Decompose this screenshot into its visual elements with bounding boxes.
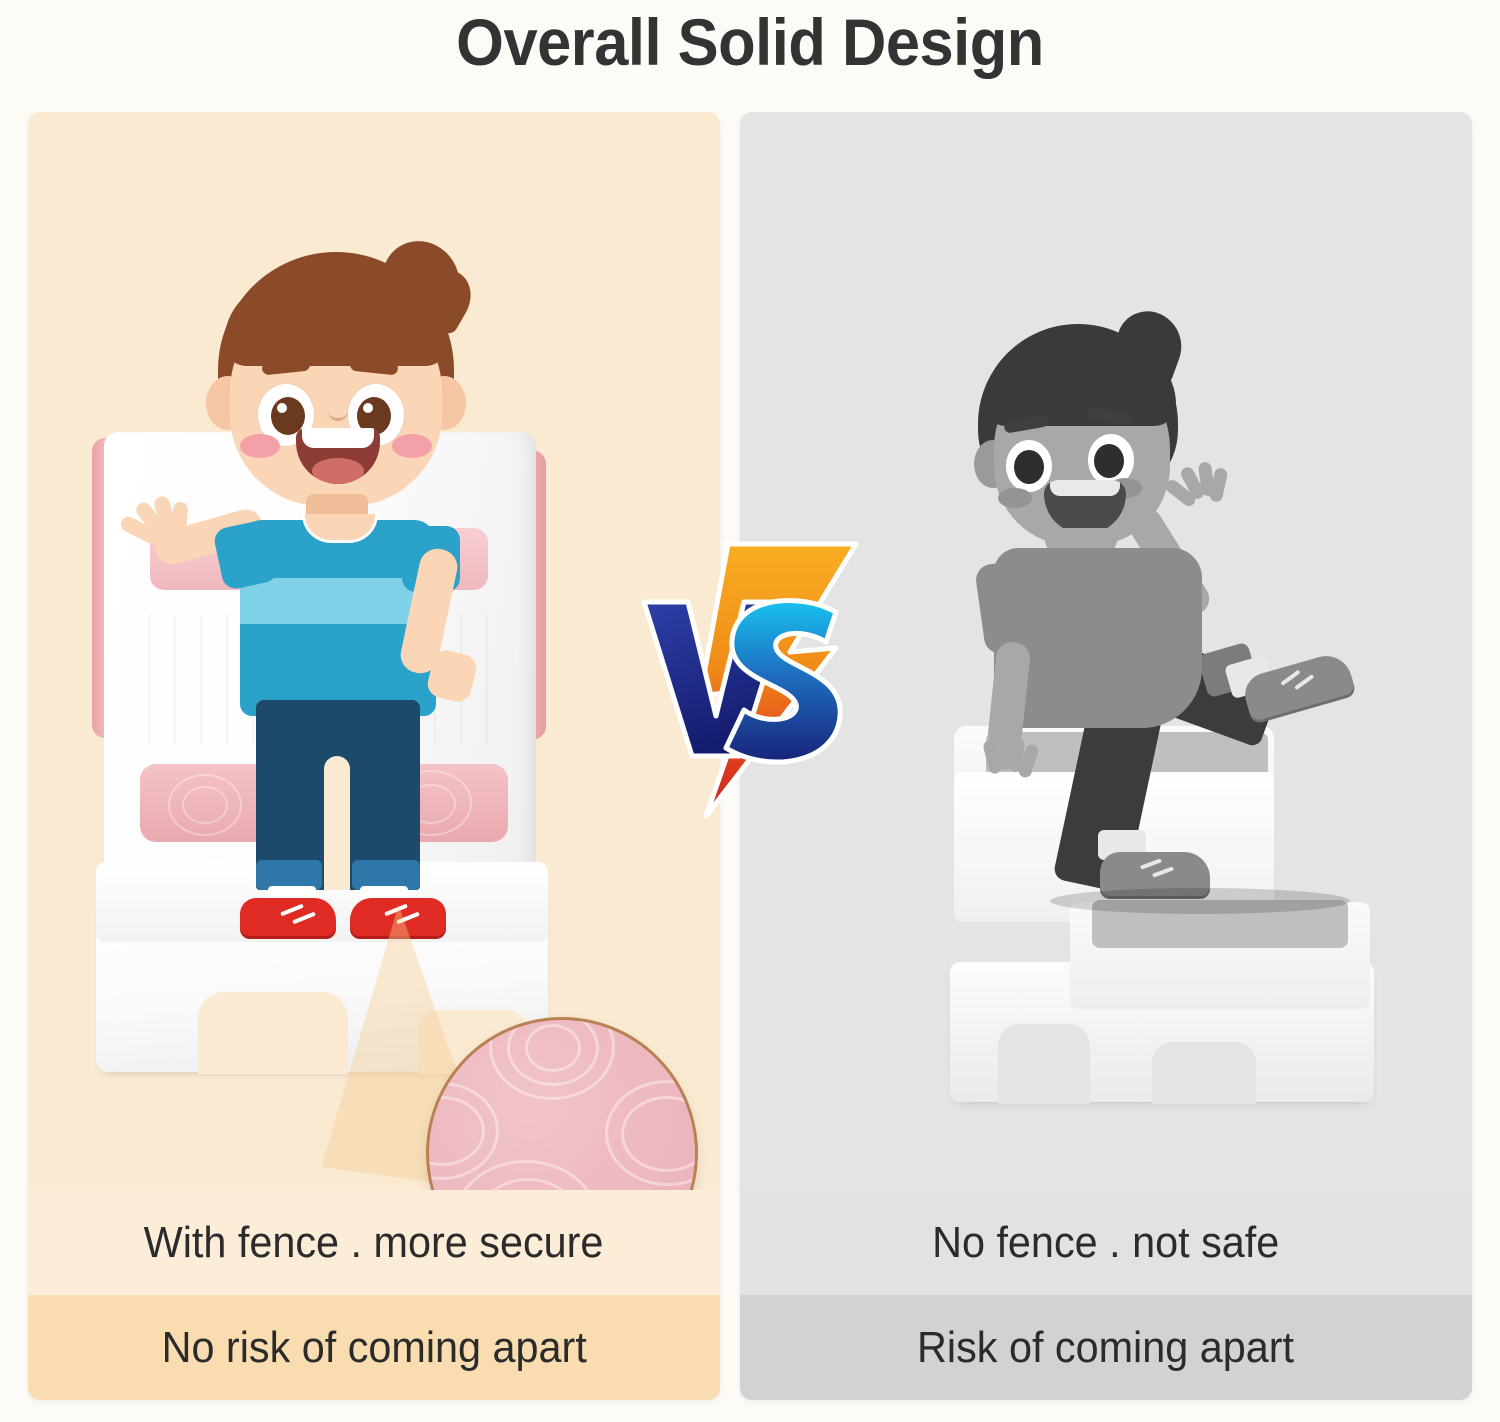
caption-bad-primary: No fence . not safe [740, 1190, 1472, 1295]
falling-boy-hand-right [1172, 462, 1228, 520]
stool-leg-cutout-left [198, 992, 348, 1074]
boy-hand-left [130, 494, 192, 556]
caption-bad-secondary: Risk of coming apart [740, 1295, 1472, 1400]
falling-boy-hand-left [984, 732, 1036, 788]
page-title: Overall Solid Design [53, 4, 1448, 80]
caption-good-primary: With fence . more secure [28, 1190, 720, 1295]
boy-shoe-left [240, 898, 336, 936]
falling-boy-character [940, 312, 1380, 872]
vs-badge [640, 520, 870, 820]
panel-left-stage: Anti-slip [28, 112, 720, 1190]
boy-cheek-right [392, 434, 432, 458]
vs-lightning-icon [640, 520, 870, 820]
happy-boy-character [144, 248, 564, 948]
infographic-page: Overall Solid Design [0, 0, 1500, 1422]
falling-boy-sleeve-left [974, 558, 1044, 655]
boy-cheek-left [240, 434, 280, 458]
caption-good-secondary: No risk of coming apart [28, 1295, 720, 1400]
falling-boy-eye-left [1006, 440, 1052, 492]
comparison-panel-good: Anti-slip With fence . more secure No ri… [28, 112, 720, 1400]
boy-fringe [224, 280, 448, 366]
